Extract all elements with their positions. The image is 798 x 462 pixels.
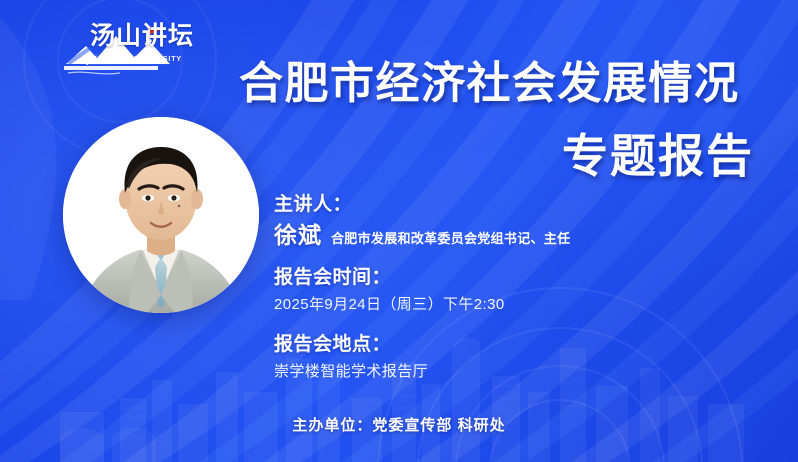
time-value: 2025年9月24日（周三）下午2:30 (274, 294, 694, 317)
speaker-row: 徐斌 合肥市发展和改革委员会党组书记、主任 (274, 222, 694, 250)
page-title-line1: 合肥市经济社会发展情况 (239, 62, 740, 106)
speaker-title: 合肥市发展和改革委员会党组书记、主任 (331, 228, 570, 247)
speaker-portrait (63, 117, 259, 313)
logo-name-en: CHAOHU UNIVERSITY (92, 54, 182, 65)
place-label: 报告会地点： (274, 332, 694, 358)
lecture-poster: 汤山讲坛 CHAOHU UNIVERSITY (0, 0, 798, 462)
speaker-name: 徐斌 (274, 222, 322, 250)
page-title-line2: 专题报告 (562, 133, 754, 179)
speaker-label: 主讲人： (274, 192, 694, 218)
place-value: 崇学楼智能学术报告厅 (274, 361, 694, 384)
organizer-footer: 主办单位：党委宣传部 科研处 (0, 414, 798, 435)
logo-name-cn: 汤山讲坛 (90, 24, 194, 49)
lecture-info: 主讲人： 徐斌 合肥市发展和改革委员会党组书记、主任 报告会时间： 2025年9… (274, 192, 694, 384)
time-label: 报告会时间： (274, 265, 694, 291)
